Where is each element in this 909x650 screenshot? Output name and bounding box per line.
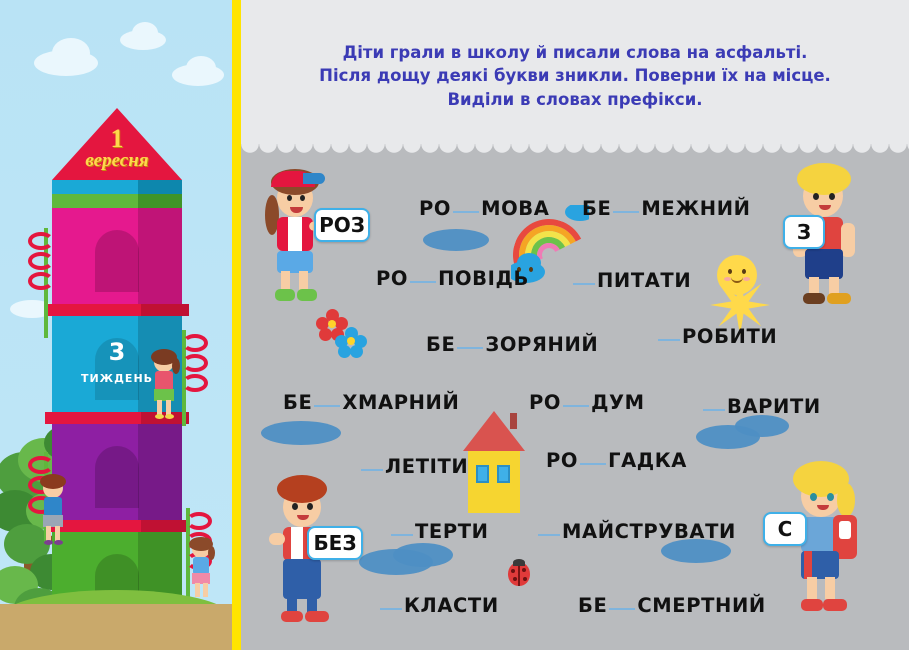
cover-illustration-panel: 1 вересня 3 ТИЖДЕНЬ [0,0,232,650]
letter-gap[interactable] [573,283,595,285]
word-letity[interactable]: ЛЕТІТИ [359,455,468,478]
instruction-line-1: Діти грали в школу й писали слова на асф… [343,43,808,62]
letter-gap[interactable] [613,211,639,213]
cloud-icon [132,22,158,44]
letter-card-bez[interactable]: БЕЗ [307,526,363,560]
word-prefix-part: БЕ [582,197,611,220]
word-root-part: ХМАРНИЙ [342,391,459,414]
letter-gap[interactable] [703,409,725,411]
letter-gap[interactable] [314,405,340,407]
letter-gap[interactable] [391,534,413,536]
word-ropovid[interactable]: РОПОВІДЬ [376,267,529,290]
house-icon [463,411,525,513]
letter-gap[interactable] [609,608,635,610]
word-root-part: КЛАСТИ [404,594,499,617]
letter-gap[interactable] [563,405,589,407]
tower-roof: 1 вересня [52,108,182,180]
letter-card-label: С [778,517,793,541]
word-varyty[interactable]: ВАРИТИ [701,395,821,418]
word-prefix-part: БЕ [426,333,455,356]
cloud-icon [186,56,216,80]
word-maistruvaty[interactable]: МАЙСТРУВАТИ [536,520,736,543]
puddle-shape [735,415,789,437]
tower-floor-pink [52,208,182,304]
word-root-part: МОВА [481,197,549,220]
letter-gap[interactable] [361,469,383,471]
word-klasty[interactable]: КЛАСТИ [378,594,499,617]
letter-gap[interactable] [658,339,680,341]
worksheet-page: 1 вересня 3 ТИЖДЕНЬ [0,0,909,650]
instruction-line-3: Виділи в словах префікси. [447,90,702,109]
word-root-part: ДУМ [591,391,645,414]
word-prefix-part: РО [546,449,578,472]
word-besmertnyi[interactable]: БЕСМЕРТНИЙ [578,594,766,617]
word-root-part: ВАРИТИ [727,395,821,418]
word-prefix-part: РО [376,267,408,290]
sun-icon [701,239,773,311]
word-pytaty[interactable]: ПИТАТИ [571,269,691,292]
word-root-part: ТЕРТИ [415,520,489,543]
scalloped-edge [241,144,909,158]
word-root-part: МАЙСТРУВАТИ [562,520,736,543]
word-terty[interactable]: ТЕРТИ [389,520,489,543]
letter-card-z[interactable]: З [783,215,825,249]
word-robyty[interactable]: РОБИТИ [656,325,777,348]
letter-card-roz[interactable]: РОЗ [314,208,370,242]
letter-card-label: З [797,220,811,244]
instruction-line-2: Після дощу деякі букви зникли. Поверни ї… [319,66,831,85]
letter-gap[interactable] [580,463,606,465]
letter-card-label: РОЗ [319,213,365,237]
word-prefix-part: РО [419,197,451,220]
letter-gap[interactable] [453,211,479,213]
word-root-part: ЛЕТІТИ [385,455,468,478]
word-bezoryanyi[interactable]: БЕЗОРЯНИЙ [426,333,598,356]
word-prefix-part: БЕ [283,391,312,414]
yellow-divider [232,0,241,650]
letter-gap[interactable] [538,534,560,536]
letter-card-s[interactable]: С [763,512,807,546]
puddle-shape [393,543,453,567]
roof-word: вересня [52,150,182,172]
word-rohadka[interactable]: РОГАДКА [546,449,687,472]
letter-card-label: БЕЗ [313,531,356,555]
word-rodum[interactable]: РОДУМ [529,391,645,414]
word-root-part: ЗОРЯНИЙ [485,333,598,356]
letter-gap[interactable] [410,281,436,283]
cloud-icon [52,38,90,68]
word-root-part: ГАДКА [608,449,687,472]
word-prefix-part: РО [529,391,561,414]
ladybug-icon [508,562,530,586]
word-bemezhnyi[interactable]: БЕМЕЖНИЙ [582,197,751,220]
puddle-shape [261,421,341,445]
letter-gap[interactable] [457,347,483,349]
worksheet-area: РОЗ З БЕЗ С РОМОВА БЕМЕЖНИЙ РОПОВІДЬ ПИТ… [241,157,909,650]
word-behmarnyi[interactable]: БЕХМАРНИЙ [283,391,459,414]
word-root-part: ПИТАТИ [597,269,691,292]
word-root-part: ПОВІДЬ [438,267,529,290]
word-romova[interactable]: РОМОВА [419,197,549,220]
letter-gap[interactable] [380,608,402,610]
word-root-part: СМЕРТНИЙ [637,594,765,617]
instructions-header: Діти грали в школу й писали слова на асф… [241,0,909,152]
roof-number: 1 [52,126,182,152]
word-root-part: РОБИТИ [682,325,777,348]
puddle-shape [423,229,489,251]
word-prefix-part: БЕ [578,594,607,617]
word-root-part: МЕЖНИЙ [641,197,750,220]
tower-floor-purple [52,424,182,520]
